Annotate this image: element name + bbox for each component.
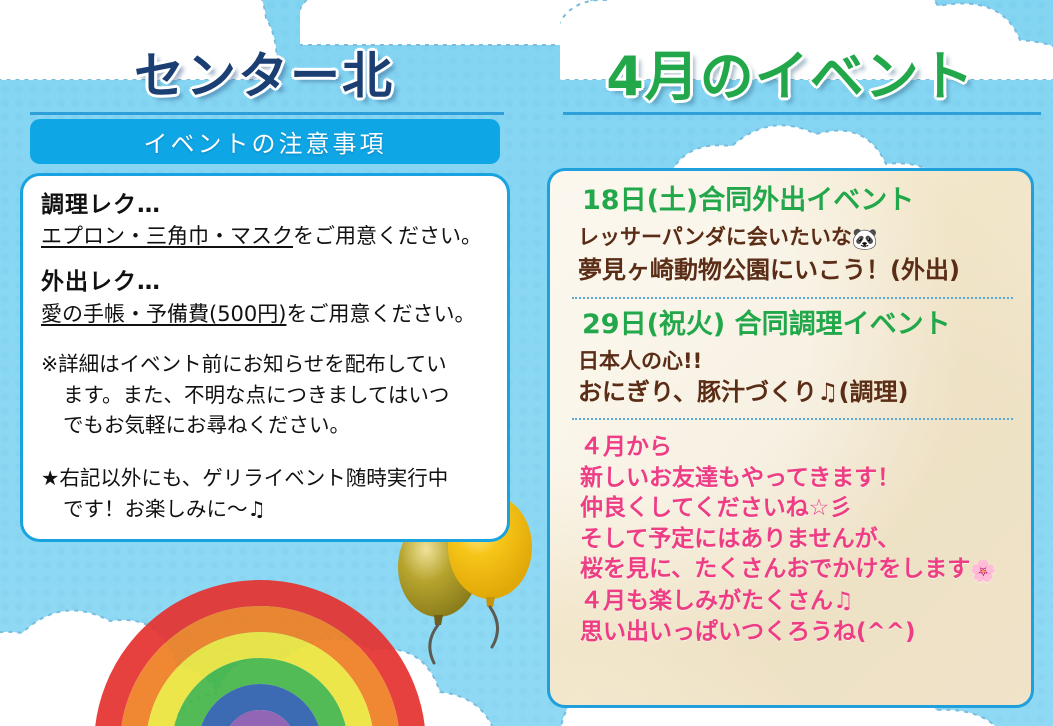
event-item-outing: 18日(土)合同外出イベント レッサーパンダに会いたいな🐼 夢見ヶ崎動物公園にい… (570, 183, 1015, 287)
rainbow-decoration (95, 556, 425, 726)
event-cooking-line1: 日本人の心!! (570, 348, 1015, 375)
right-page-title: 4月のイベント (528, 32, 1053, 111)
pink-message-line-7: 思い出いっぱいつくろうね(^^) (580, 617, 1015, 648)
notice-block-outing: 外出レク… 愛の手帳・予備費(500円)をご用意ください。 (41, 267, 491, 328)
event-cooking-line2: おにぎり、豚汁づくり♫(調理) (570, 377, 1015, 408)
cherry-blossom-icon: 🌸 (970, 559, 996, 583)
left-title-rule (30, 112, 504, 115)
pink-message-block: ４月から 新しいお友達もやってきます！ 仲良くしてくださいね☆彡 そして予定には… (570, 432, 1015, 647)
pink-message-line-5: 桜を見に、たくさんおでかけをします🌸 (580, 554, 1015, 586)
right-title-rule (563, 112, 1041, 115)
notice-cooking-tail: をご用意ください。 (293, 224, 482, 248)
pink-message-line-3: 仲良くしてくださいね☆彡 (580, 493, 1015, 524)
event-separator-2 (572, 418, 1013, 420)
pink-message-line-1: ４月から (580, 432, 1015, 463)
notice-paragraph-details-line2: ます。また、不明な点につきましてはいつ (41, 380, 491, 411)
notice-cooking-items: エプロン・三角巾・マスク (41, 224, 293, 248)
notice-outing-detail: 愛の手帳・予備費(500円)をご用意ください。 (41, 299, 491, 329)
event-outing-line1: レッサーパンダに会いたいな🐼 (570, 224, 1015, 253)
notice-outing-items: 愛の手帳・予備費(500円) (41, 302, 286, 326)
event-cooking-heading: 29日(祝火) 合同調理イベント (570, 307, 1015, 342)
events-box: 18日(土)合同外出イベント レッサーパンダに会いたいな🐼 夢見ヶ崎動物公園にい… (547, 168, 1034, 708)
event-outing-line1-text: レッサーパンダに会いたいな (578, 225, 852, 249)
left-page-title: センター北 (0, 36, 528, 108)
notice-block-cooking: 調理レク… エプロン・三角巾・マスクをご用意ください。 (41, 190, 491, 251)
notice-outing-tail: をご用意ください。 (286, 302, 475, 326)
event-item-cooking: 29日(祝火) 合同調理イベント 日本人の心!! おにぎり、豚汁づくり♫(調理) (570, 307, 1015, 409)
notice-paragraph-details-line1: ※詳細はイベント前にお知らせを配布してい (41, 352, 447, 376)
notice-paragraph-details: ※詳細はイベント前にお知らせを配布してい ます。また、不明な点につきましてはいつ… (41, 349, 491, 441)
notice-banner-label: イベントの注意事項 (144, 124, 387, 159)
notice-cooking-heading: 調理レク… (41, 190, 491, 221)
pink-message-line-4: そして予定にはありませんが、 (580, 524, 1015, 555)
notice-cooking-detail: エプロン・三角巾・マスクをご用意ください。 (41, 221, 491, 251)
event-separator-1 (572, 297, 1013, 299)
notice-paragraph-details-line3: でもお気軽にお尋ねください。 (41, 410, 491, 441)
pink-message-line-2: 新しいお友達もやってきます！ (580, 463, 1015, 494)
pink-message-line-5-text: 桜を見に、たくさんおでかけをします (580, 556, 970, 582)
event-outing-heading: 18日(土)合同外出イベント (570, 183, 1015, 218)
notice-paragraph-guerrilla-line1: ★右記以外にも、ゲリライベント随時実行中 (41, 466, 448, 490)
notice-box: 調理レク… エプロン・三角巾・マスクをご用意ください。 外出レク… 愛の手帳・予… (20, 173, 510, 542)
notice-banner: イベントの注意事項 (30, 119, 500, 164)
event-outing-line2: 夢見ヶ崎動物公園にいこう！(外出) (570, 255, 1015, 286)
notice-paragraph-guerrilla-line2: です！お楽しみに〜♫ (41, 494, 491, 525)
panda-icon: 🐼 (852, 227, 878, 251)
notice-outing-heading: 外出レク… (41, 267, 491, 298)
pink-message-line-6: ４月も楽しみがたくさん♫ (580, 586, 1015, 617)
notice-paragraph-guerrilla: ★右記以外にも、ゲリライベント随時実行中 です！お楽しみに〜♫ (41, 463, 491, 525)
